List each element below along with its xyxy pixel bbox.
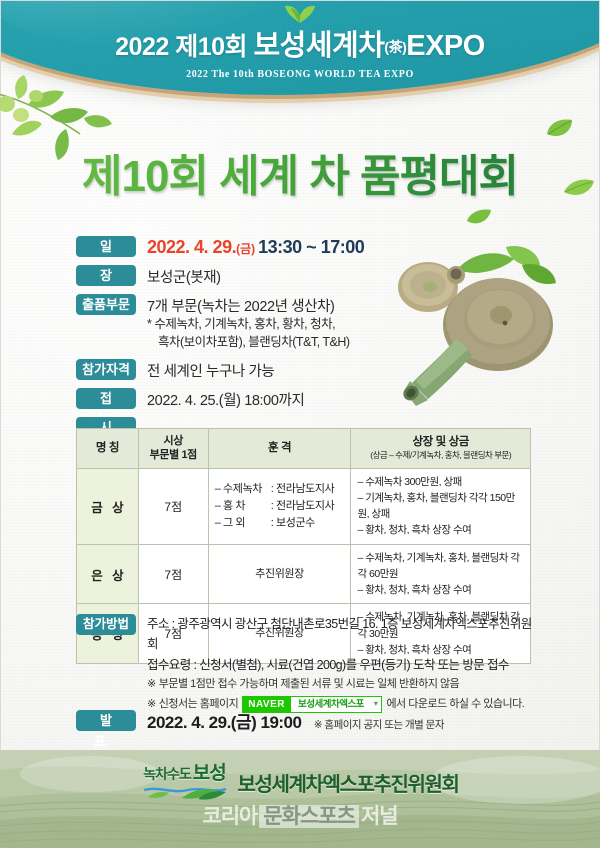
info-tag-reception: 접 수 bbox=[76, 388, 136, 409]
info-value-eligibility: 전 세계인 누구나 가능 bbox=[147, 359, 274, 381]
info-value-venue: 보성군(봇재) bbox=[147, 265, 221, 287]
honor-value: : 전라남도지사 bbox=[271, 500, 335, 512]
footer-banner: 녹차수도보성 보성세계차엑스포추진위원회 코리아문화스포츠저널 bbox=[0, 750, 600, 848]
boseong-logo-prefix: 녹차수도 bbox=[143, 766, 191, 782]
header-title-group: 2022 제10회 보성세계차(茶)EXPO 2022 The 10th BOS… bbox=[0, 22, 600, 80]
table-row: 은 상 7점 추진위원장 – 수제녹차, 기계녹차, 홍차, 블랜딩차 각각 6… bbox=[77, 544, 531, 604]
honor-label: – 그 외 bbox=[215, 515, 271, 532]
apply-method-line: 접수요령 : 신청서(별첨), 시료(건엽 200g)를 우편(등기) 도착 또… bbox=[147, 655, 536, 675]
info-tag-date: 일 시 bbox=[76, 236, 136, 257]
header-cell-honor: 훈 격 bbox=[208, 429, 351, 469]
info-value-date: 2022. 4. 29.(금)13:30 ~ 17:00 bbox=[147, 236, 364, 258]
info-row-categories: 출품부문 7개 부문(녹차는 2022년 생산차) * 수제녹차, 기계녹차, … bbox=[76, 294, 406, 352]
watermark-left: 코리아 bbox=[202, 805, 257, 828]
event-info-list: 일 시 2022. 4. 29.(금)13:30 ~ 17:00 장 소 보성군… bbox=[76, 236, 406, 445]
header-cell-count: 시상 부문별 1점 bbox=[138, 429, 208, 469]
header-year: 2022 bbox=[115, 33, 169, 61]
boseong-logo-name: 보성 bbox=[193, 763, 226, 784]
info-tag-categories: 출품부문 bbox=[76, 294, 136, 315]
award-count-gold: 7점 bbox=[138, 468, 208, 544]
award-honor-silver: 추진위원장 bbox=[208, 544, 351, 604]
boseong-logo-wave-icon bbox=[142, 784, 228, 800]
header-expo-word: EXPO bbox=[406, 30, 485, 62]
info-row-venue: 장 소 보성군(봇재) bbox=[76, 265, 406, 287]
sprout-icon bbox=[283, 2, 317, 24]
header-prize-sub: (상금 – 수제/기계녹차, 홍차, 블랜딩차 부문) bbox=[353, 450, 528, 461]
table-row: 금 상 7점 – 수제녹차: 전라남도지사 – 홍 차: 전라남도지사 – 그 … bbox=[77, 468, 531, 544]
honor-label: – 홍 차 bbox=[215, 498, 271, 515]
page-title: 제10회 세계 차 품평대회 bbox=[0, 140, 600, 204]
prize-line: – 황차, 청차, 흑차 상장 수여 bbox=[357, 522, 524, 538]
header-subtitle-en: 2022 The 10th BOSEONG WORLD TEA EXPO bbox=[0, 69, 600, 80]
categories-main: 7개 부문(녹차는 2022년 생산차) bbox=[147, 295, 350, 316]
info-value-categories: 7개 부문(녹차는 2022년 생산차) * 수제녹차, 기계녹차, 홍차, 황… bbox=[147, 294, 350, 352]
award-prize-silver: – 수제녹차, 기계녹차, 홍차, 블랜딩차 각각 60만원 – 황차, 청차,… bbox=[351, 544, 531, 604]
event-time: 13:30 ~ 17:00 bbox=[258, 237, 364, 257]
note-star-icon: ※ bbox=[147, 675, 156, 695]
header-count-sub: 부문별 1점 bbox=[141, 448, 206, 462]
info-tag-venue: 장 소 bbox=[76, 265, 136, 286]
boseong-brand-logo: 녹차수도보성 bbox=[142, 764, 228, 800]
info-row-date: 일 시 2022. 4. 29.(금)13:30 ~ 17:00 bbox=[76, 236, 406, 258]
committee-name: 보성세계차엑스포추진위원회 bbox=[238, 768, 459, 797]
info-row-eligibility: 참가자격 전 세계인 누구나 가능 bbox=[76, 359, 406, 381]
poster-root: 2022 제10회 보성세계차(茶)EXPO 2022 The 10th BOS… bbox=[0, 0, 600, 848]
apply-tag: 참가방법 bbox=[76, 614, 136, 635]
leaf-decoration-icon bbox=[545, 118, 575, 142]
header-expo-name: 보성세계차 bbox=[254, 30, 385, 62]
header-cell-prize: 상장 및 상금 (상금 – 수제/기계녹차, 홍차, 블랜딩차 부문) bbox=[351, 429, 531, 469]
leaf-decoration-icon bbox=[466, 208, 492, 228]
teapot-illustration bbox=[398, 243, 573, 408]
honor-value: : 보성군수 bbox=[271, 517, 315, 529]
event-date: 2022. 4. 29. bbox=[147, 237, 236, 257]
announce-value: 2022. 4. 29.(금) 19:00 bbox=[147, 713, 301, 732]
announce-datetime: 2022. 4. 29.(금) 19:00 ※ 홈페이지 공지 또는 개별 문자 bbox=[147, 708, 444, 733]
announce-tag: 발 표 bbox=[76, 710, 136, 731]
apply-address-line: 주소 : 광주광역시 광산구 첨단내촌로35번길 16. 1층 보성세계차엑스포… bbox=[147, 614, 536, 655]
prize-line: – 황차, 청차, 흑차 상장 수여 bbox=[357, 582, 524, 598]
header-count-main: 시상 bbox=[141, 434, 206, 448]
header-tea-kanji: (茶) bbox=[384, 39, 406, 55]
header-edition: 제10회 bbox=[175, 33, 247, 61]
award-prize-gold: – 수제녹차 300만원, 상패 – 기계녹차, 홍차, 블랜딩차 각각 150… bbox=[351, 468, 531, 544]
honor-value: : 전라남도지사 bbox=[271, 483, 335, 495]
table-header-row: 명 칭 시상 부문별 1점 훈 격 상장 및 상금 (상금 – 수제/기계녹차,… bbox=[77, 429, 531, 469]
watermark: 코리아문화스포츠저널 bbox=[0, 800, 600, 830]
info-row-reception: 접 수 2022. 4. 25.(월) 18:00까지 bbox=[76, 388, 406, 410]
application-section: 참가방법 주소 : 광주광역시 광산구 첨단내촌로35번길 16. 1층 보성세… bbox=[76, 614, 536, 714]
announce-note: ※ 홈페이지 공지 또는 개별 문자 bbox=[314, 719, 444, 731]
award-name-silver: 은 상 bbox=[77, 544, 139, 604]
info-value-reception: 2022. 4. 25.(월) 18:00까지 bbox=[147, 388, 304, 410]
apply-body: 주소 : 광주광역시 광산구 첨단내촌로35번길 16. 1층 보성세계차엑스포… bbox=[147, 614, 536, 714]
categories-detail-line2: 흑차(보이차포함), 블랜딩차(T&T, T&H) bbox=[147, 334, 350, 352]
info-tag-eligibility: 참가자격 bbox=[76, 359, 136, 380]
honor-line: – 홍 차: 전라남도지사 bbox=[215, 498, 345, 515]
honor-line: – 그 외: 보성군수 bbox=[215, 515, 345, 532]
award-count-silver: 7점 bbox=[138, 544, 208, 604]
boseong-logo-text: 녹차수도보성 bbox=[143, 764, 226, 783]
award-honor-gold: – 수제녹차: 전라남도지사 – 홍 차: 전라남도지사 – 그 외: 보성군수 bbox=[208, 468, 351, 544]
award-table-header: 명 칭 시상 부문별 1점 훈 격 상장 및 상금 (상금 – 수제/기계녹차,… bbox=[77, 429, 531, 469]
prize-line: – 수제녹차 300만원, 상패 bbox=[357, 474, 524, 490]
apply-note-1-text: 부문별 1점만 접수 가능하며 제출된 서류 및 시료는 일체 반환하지 않음 bbox=[159, 675, 460, 695]
watermark-right: 저널 bbox=[361, 805, 398, 828]
categories-detail-line1: * 수제녹차, 기계녹차, 홍차, 황차, 청차, bbox=[147, 316, 350, 334]
honor-line: – 수제녹차: 전라남도지사 bbox=[215, 481, 345, 498]
header-title-line: 2022 제10회 보성세계차(茶)EXPO bbox=[0, 22, 600, 64]
announcement-row: 발 표 2022. 4. 29.(금) 19:00 ※ 홈페이지 공지 또는 개… bbox=[76, 708, 444, 733]
prize-line: – 수제녹차, 기계녹차, 홍차, 블랜딩차 각각 60만원 bbox=[357, 550, 524, 583]
prize-line: – 기계녹차, 홍차, 블랜딩차 각각 150만원, 상패 bbox=[357, 490, 524, 523]
header-prize-main: 상장 및 상금 bbox=[412, 436, 469, 448]
footer-logo-group: 녹차수도보성 보성세계차엑스포추진위원회 bbox=[0, 764, 600, 800]
watermark-boxed: 문화스포츠 bbox=[259, 805, 359, 828]
apply-note-1: ※ 부문별 1점만 접수 가능하며 제출된 서류 및 시료는 일체 반환하지 않… bbox=[147, 675, 536, 695]
honor-label: – 수제녹차 bbox=[215, 481, 271, 498]
event-weekday: (금) bbox=[236, 242, 255, 256]
header-cell-name: 명 칭 bbox=[77, 429, 139, 469]
award-name-gold: 금 상 bbox=[77, 468, 139, 544]
application-header: 참가방법 주소 : 광주광역시 광산구 첨단내촌로35번길 16. 1층 보성세… bbox=[76, 614, 536, 714]
